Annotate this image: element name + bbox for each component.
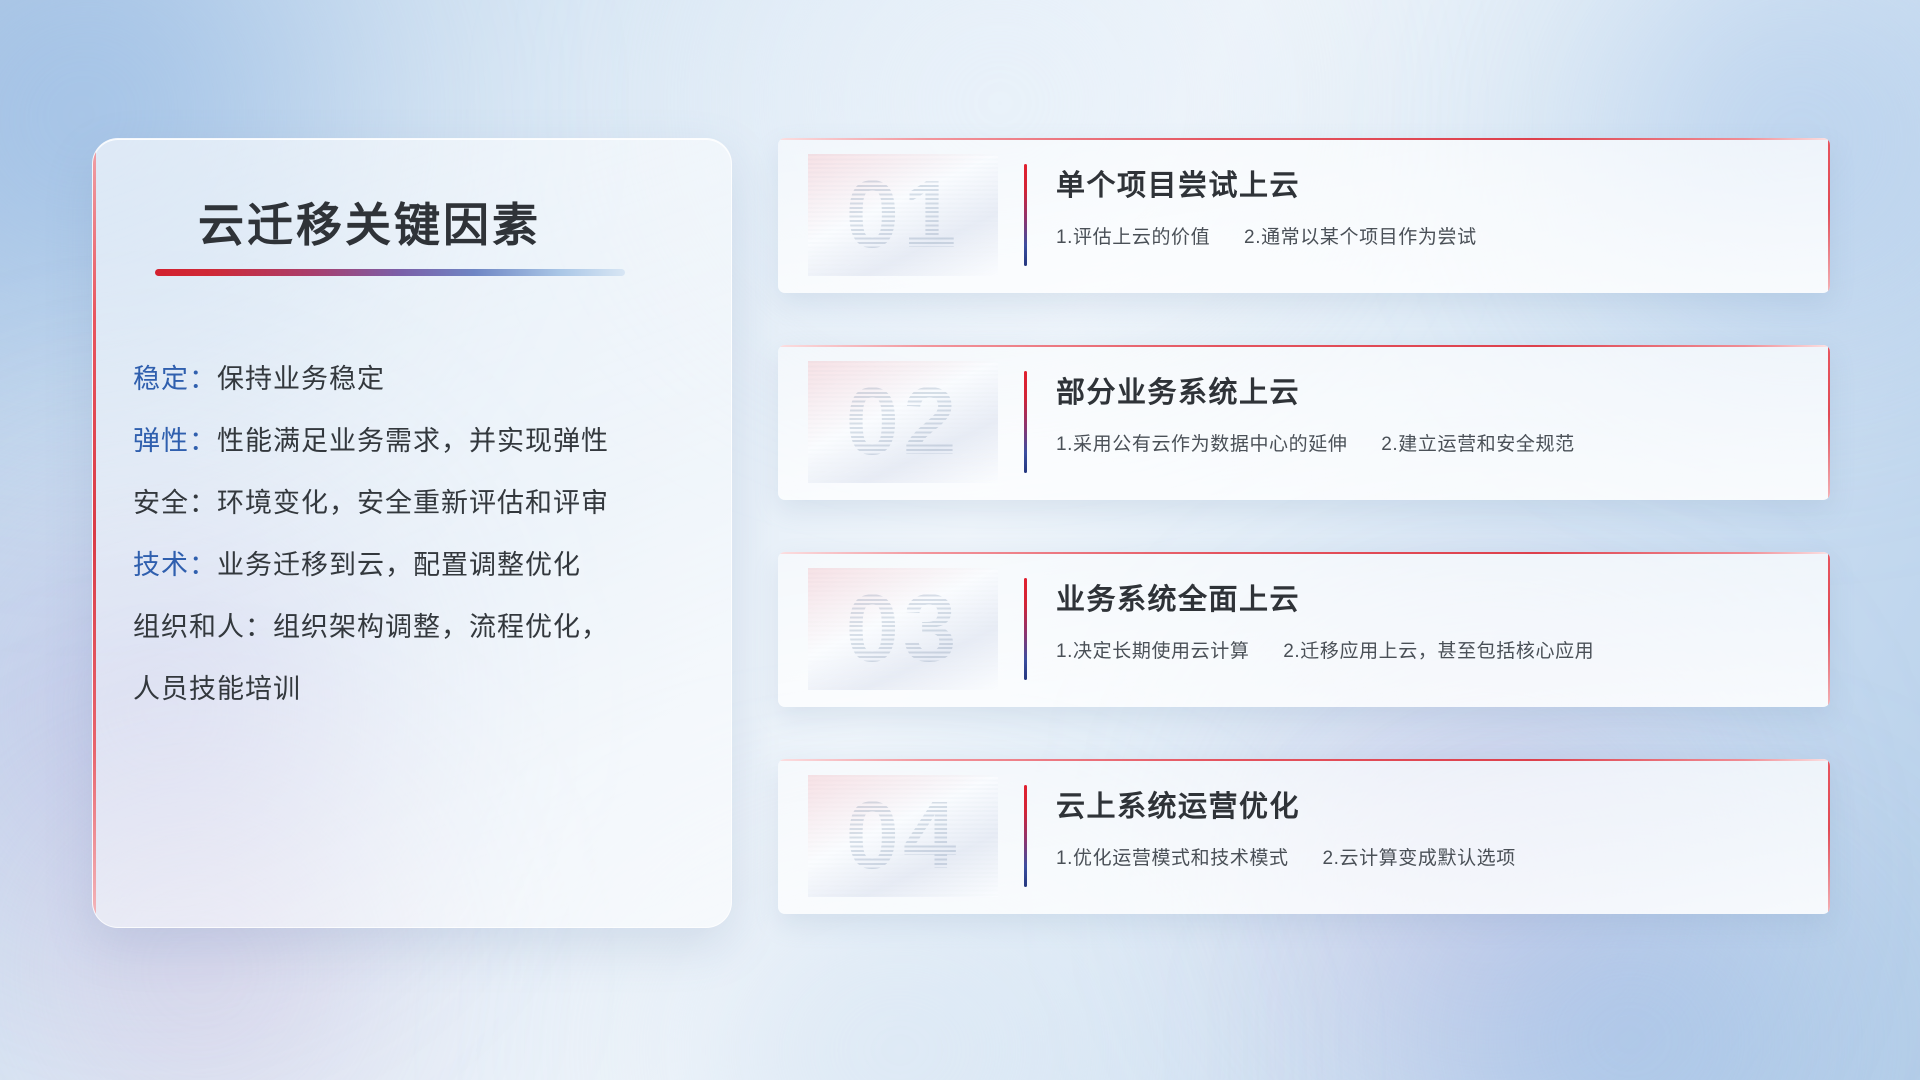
factor-value-technology: 业务迁移到云，配置调整优化 <box>217 543 581 582</box>
stage-card-list: 01 单个项目尝试上云 1.评估上云的价值 2.通常以某个项目作为尝试 02 部… <box>778 138 1830 966</box>
factor-value-organization: 组织架构调整，流程优化， <box>273 605 609 644</box>
stage-card-04[interactable]: 04 云上系统运营优化 1.优化运营模式和技术模式 2.云计算变成默认选项 <box>778 759 1830 914</box>
factor-label-organization: 组织和人： <box>133 605 273 644</box>
key-factors-panel: 云迁移关键因素 稳定： 保持业务稳定 弹性： 性能满足业务需求，并实现弹性 安全… <box>92 138 732 928</box>
stage-card-02[interactable]: 02 部分业务系统上云 1.采用公有云作为数据中心的延伸 2.建立运营和安全规范 <box>778 345 1830 500</box>
factor-label-technology: 技术： <box>133 543 217 582</box>
factor-list: 稳定： 保持业务稳定 弹性： 性能满足业务需求，并实现弹性 安全： 环境变化，安… <box>133 357 705 729</box>
factor-label-stability: 稳定： <box>133 357 217 396</box>
stage-heading-01: 单个项目尝试上云 <box>1056 162 1790 204</box>
stage-point-2-01: 2.通常以某个项目作为尝试 <box>1244 227 1477 248</box>
stage-point-2-02: 2.建立运营和安全规范 <box>1381 434 1574 455</box>
factor-item-technology: 技术： 业务迁移到云，配置调整优化 <box>133 543 705 605</box>
stage-card-body-02: 部分业务系统上云 1.采用公有云作为数据中心的延伸 2.建立运营和安全规范 <box>1056 369 1790 456</box>
stage-card-03[interactable]: 03 业务系统全面上云 1.决定长期使用云计算 2.迁移应用上云，甚至包括核心应… <box>778 552 1830 707</box>
stage-card-body-04: 云上系统运营优化 1.优化运营模式和技术模式 2.云计算变成默认选项 <box>1056 783 1790 870</box>
factor-item-stability: 稳定： 保持业务稳定 <box>133 357 705 419</box>
stage-number-01: 01 <box>808 154 998 276</box>
stage-point-1-01: 1.评估上云的价值 <box>1056 227 1210 248</box>
stage-card-body-03: 业务系统全面上云 1.决定长期使用云计算 2.迁移应用上云，甚至包括核心应用 <box>1056 576 1790 663</box>
stage-subtitle-02: 1.采用公有云作为数据中心的延伸 2.建立运营和安全规范 <box>1056 429 1790 456</box>
stage-divider-04 <box>1024 785 1027 887</box>
factor-value-stability: 保持业务稳定 <box>217 357 385 396</box>
stage-subtitle-04: 1.优化运营模式和技术模式 2.云计算变成默认选项 <box>1056 843 1790 870</box>
stage-subtitle-01: 1.评估上云的价值 2.通常以某个项目作为尝试 <box>1056 222 1790 249</box>
stage-point-2-03: 2.迁移应用上云，甚至包括核心应用 <box>1283 641 1594 662</box>
title-underline-accent <box>155 269 625 276</box>
slide-stage: 云迁移关键因素 稳定： 保持业务稳定 弹性： 性能满足业务需求，并实现弹性 安全… <box>0 0 1920 1080</box>
stage-card-body-01: 单个项目尝试上云 1.评估上云的价值 2.通常以某个项目作为尝试 <box>1056 162 1790 249</box>
stage-point-1-04: 1.优化运营模式和技术模式 <box>1056 848 1289 869</box>
stage-divider-02 <box>1024 371 1027 473</box>
factor-item-organization: 组织和人： 组织架构调整，流程优化， <box>133 605 705 667</box>
stage-heading-04: 云上系统运营优化 <box>1056 783 1790 825</box>
page-title: 云迁移关键因素 <box>198 189 541 255</box>
stage-point-1-03: 1.决定长期使用云计算 <box>1056 641 1249 662</box>
stage-subtitle-03: 1.决定长期使用云计算 2.迁移应用上云，甚至包括核心应用 <box>1056 636 1790 663</box>
stage-card-01[interactable]: 01 单个项目尝试上云 1.评估上云的价值 2.通常以某个项目作为尝试 <box>778 138 1830 293</box>
stage-point-2-04: 2.云计算变成默认选项 <box>1322 848 1515 869</box>
stage-number-03: 03 <box>808 568 998 690</box>
stage-divider-03 <box>1024 578 1027 680</box>
stage-point-1-02: 1.采用公有云作为数据中心的延伸 <box>1056 434 1347 455</box>
factor-item-security: 安全： 环境变化，安全重新评估和评审 <box>133 481 705 543</box>
factor-value-elasticity: 性能满足业务需求，并实现弹性 <box>217 419 609 458</box>
stage-divider-01 <box>1024 164 1027 266</box>
factor-label-security: 安全： <box>133 481 217 520</box>
factor-item-elasticity: 弹性： 性能满足业务需求，并实现弹性 <box>133 419 705 481</box>
factor-item-organization-continued: 人员技能培训 <box>133 667 705 729</box>
stage-number-04: 04 <box>808 775 998 897</box>
factor-label-elasticity: 弹性： <box>133 419 217 458</box>
factor-value-organization-continued: 人员技能培训 <box>133 667 301 706</box>
stage-heading-03: 业务系统全面上云 <box>1056 576 1790 618</box>
factor-value-security: 环境变化，安全重新评估和评审 <box>217 481 609 520</box>
stage-number-02: 02 <box>808 361 998 483</box>
stage-heading-02: 部分业务系统上云 <box>1056 369 1790 411</box>
